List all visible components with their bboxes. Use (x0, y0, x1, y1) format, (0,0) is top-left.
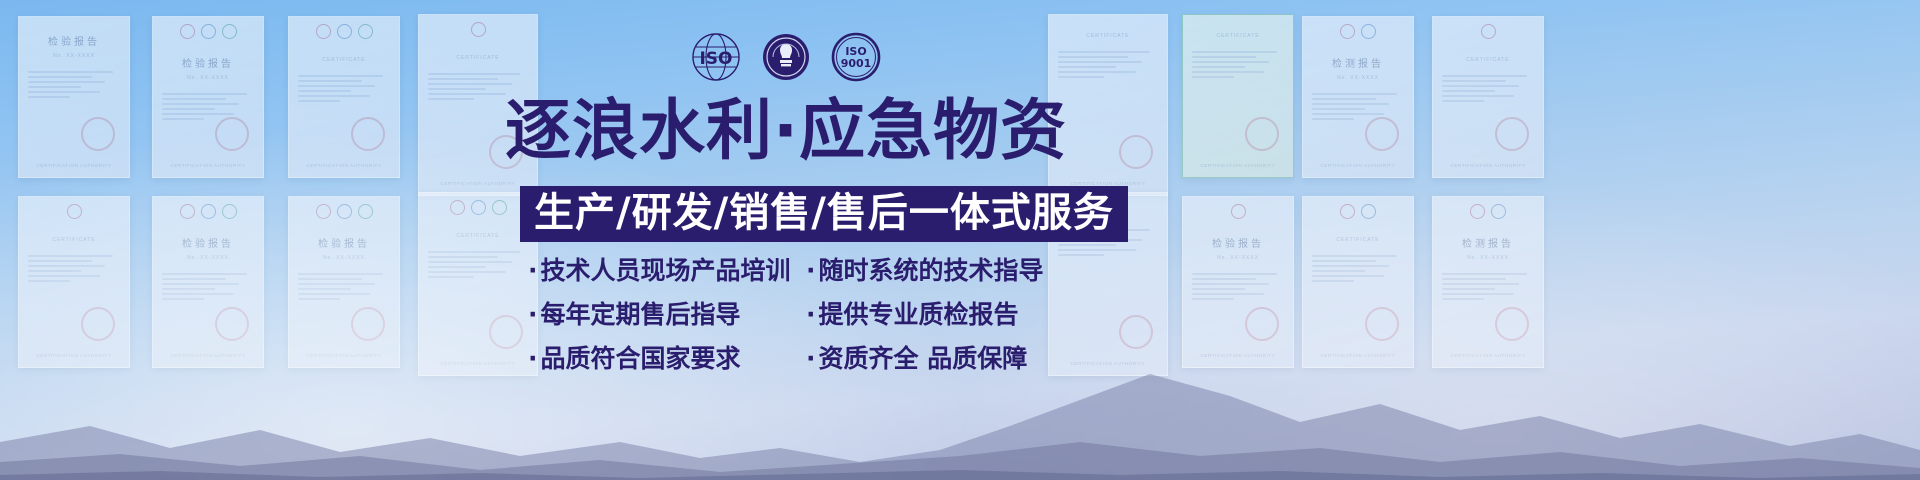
subtitle-bar: 生产/研发/销售/售后一体式服务 (520, 186, 1128, 242)
feature-item-right: ·随时系统的技术指导 (806, 258, 1088, 283)
bullet-icon: · (806, 344, 816, 373)
iso-9001-bottom-label: 9001 (841, 57, 872, 70)
feature-item-left: ·品质符合国家要求 (528, 346, 806, 371)
iso-globe-badge: ISO (690, 31, 742, 88)
feature-row: ·每年定期售后指导·提供专业质检报告 (528, 292, 1088, 336)
feature-item-right: ·提供专业质检报告 (806, 302, 1088, 327)
bullet-icon: · (528, 344, 538, 373)
feature-row: ·技术人员现场产品培训·随时系统的技术指导 (528, 248, 1088, 292)
feature-item-left: ·每年定期售后指导 (528, 302, 806, 327)
bullet-icon: · (528, 300, 538, 329)
iso-globe-label: ISO (699, 49, 732, 69)
certification-badges: ISO ISO 9001 (690, 28, 880, 90)
banner-content: ISO ISO 9001 (0, 0, 1920, 480)
feature-item-right: ·资质齐全 品质保障 (806, 346, 1088, 371)
headline: 逐浪水利·应急物资 (505, 98, 1075, 164)
feature-row: ·品质符合国家要求·资质齐全 品质保障 (528, 336, 1088, 380)
promotional-banner: 检验报告No. XX-XXXXCERTIFICATION AUTHORITY检验… (0, 0, 1920, 480)
feature-list: ·技术人员现场产品培训·随时系统的技术指导·每年定期售后指导·提供专业质检报告·… (528, 248, 1088, 380)
bullet-icon: · (806, 256, 816, 285)
quality-seal-badge (760, 31, 812, 88)
iso-9001-badge: ISO 9001 (830, 31, 882, 88)
feature-item-left: ·技术人员现场产品培训 (528, 258, 806, 283)
bullet-icon: · (806, 300, 816, 329)
bullet-icon: · (528, 256, 538, 285)
